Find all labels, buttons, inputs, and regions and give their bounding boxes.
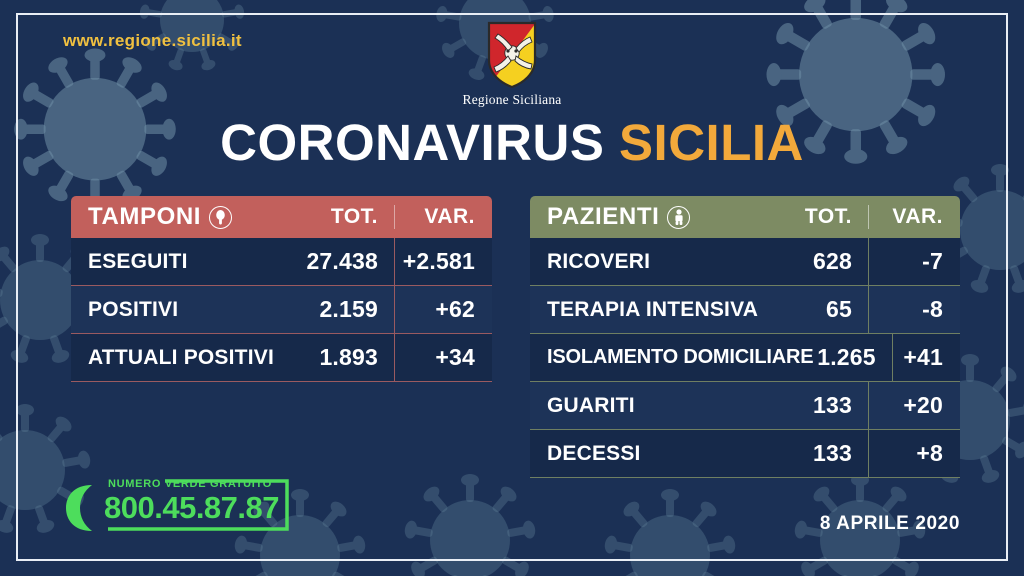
row-label: DECESSI — [530, 442, 760, 466]
table-row: ISOLAMENTO DOMICILIARE 1.265 +41 — [530, 334, 960, 382]
row-label: GUARITI — [530, 394, 760, 418]
table-row: TERAPIA INTENSIVA 65 -8 — [530, 286, 960, 334]
pazienti-header-title: PAZIENTI — [530, 203, 760, 231]
row-total: 2.159 — [286, 296, 394, 323]
trinacria-shield-icon — [486, 20, 538, 90]
row-label: RICOVERI — [530, 250, 760, 274]
row-variation: +34 — [394, 334, 492, 381]
row-total: 133 — [760, 440, 868, 467]
row-label: ESEGUITI — [71, 250, 286, 274]
row-variation: +62 — [394, 286, 492, 333]
row-label: POSITIVI — [71, 298, 286, 322]
row-total: 1.265 — [813, 344, 891, 371]
row-total: 27.438 — [286, 248, 394, 275]
title-coronavirus: CORONAVIRUS — [220, 114, 604, 171]
tamponi-col-var: VAR. — [394, 205, 492, 229]
hotline-number[interactable]: 800.45.87.87 — [104, 490, 279, 526]
table-row: ATTUALI POSITIVI 1.893 +34 — [71, 334, 492, 382]
tamponi-col-tot: TOT. — [286, 205, 394, 229]
row-total: 65 — [760, 296, 868, 323]
tamponi-table: TAMPONI TOT. VAR. ESEGUITI 27.438 +2.581… — [71, 196, 492, 382]
phone-icon — [62, 482, 96, 534]
table-row: DECESSI 133 +8 — [530, 430, 960, 478]
row-variation: -7 — [868, 238, 960, 285]
pazienti-col-tot: TOT. — [760, 205, 868, 229]
row-variation: +8 — [868, 430, 960, 477]
row-variation: +20 — [868, 382, 960, 429]
pazienti-col-var: VAR. — [868, 205, 960, 229]
row-total: 628 — [760, 248, 868, 275]
regione-siciliana-logo: Regione Siciliana — [443, 20, 581, 108]
tamponi-table-header: TAMPONI TOT. VAR. — [71, 196, 492, 238]
pazienti-table-header: PAZIENTI TOT. VAR. — [530, 196, 960, 238]
row-variation: -8 — [868, 286, 960, 333]
logo-caption: Regione Siciliana — [443, 92, 581, 108]
page-title: CORONAVIRUS SICILIA — [0, 117, 1024, 168]
tamponi-header-title: TAMPONI — [71, 203, 286, 231]
pazienti-table: PAZIENTI TOT. VAR. RICOVERI 628 -7 TERAP… — [530, 196, 960, 478]
pazienti-title-text: PAZIENTI — [547, 203, 659, 231]
person-icon — [667, 206, 690, 229]
infographic-canvas: www.regione.sicilia.it — [0, 0, 1024, 576]
tamponi-title-text: TAMPONI — [88, 203, 201, 231]
website-url[interactable]: www.regione.sicilia.it — [63, 31, 242, 51]
report-date: 8 APRILE 2020 — [820, 513, 960, 535]
row-variation: +41 — [892, 334, 960, 381]
row-label: TERAPIA INTENSIVA — [530, 298, 760, 322]
hotline-label: NUMERO VERDE GRATUITO — [108, 478, 272, 490]
row-variation: +2.581 — [394, 238, 492, 285]
hotline-block[interactable]: NUMERO VERDE GRATUITO 800.45.87.87 — [62, 476, 292, 542]
table-row: ESEGUITI 27.438 +2.581 — [71, 238, 492, 286]
title-sicilia: SICILIA — [619, 114, 804, 171]
table-row: GUARITI 133 +20 — [530, 382, 960, 430]
swab-icon — [209, 206, 232, 229]
row-label: ISOLAMENTO DOMICILIARE — [530, 346, 813, 369]
row-total: 1.893 — [286, 344, 394, 371]
table-row: POSITIVI 2.159 +62 — [71, 286, 492, 334]
table-row: RICOVERI 628 -7 — [530, 238, 960, 286]
row-label: ATTUALI POSITIVI — [71, 346, 286, 370]
row-total: 133 — [760, 392, 868, 419]
